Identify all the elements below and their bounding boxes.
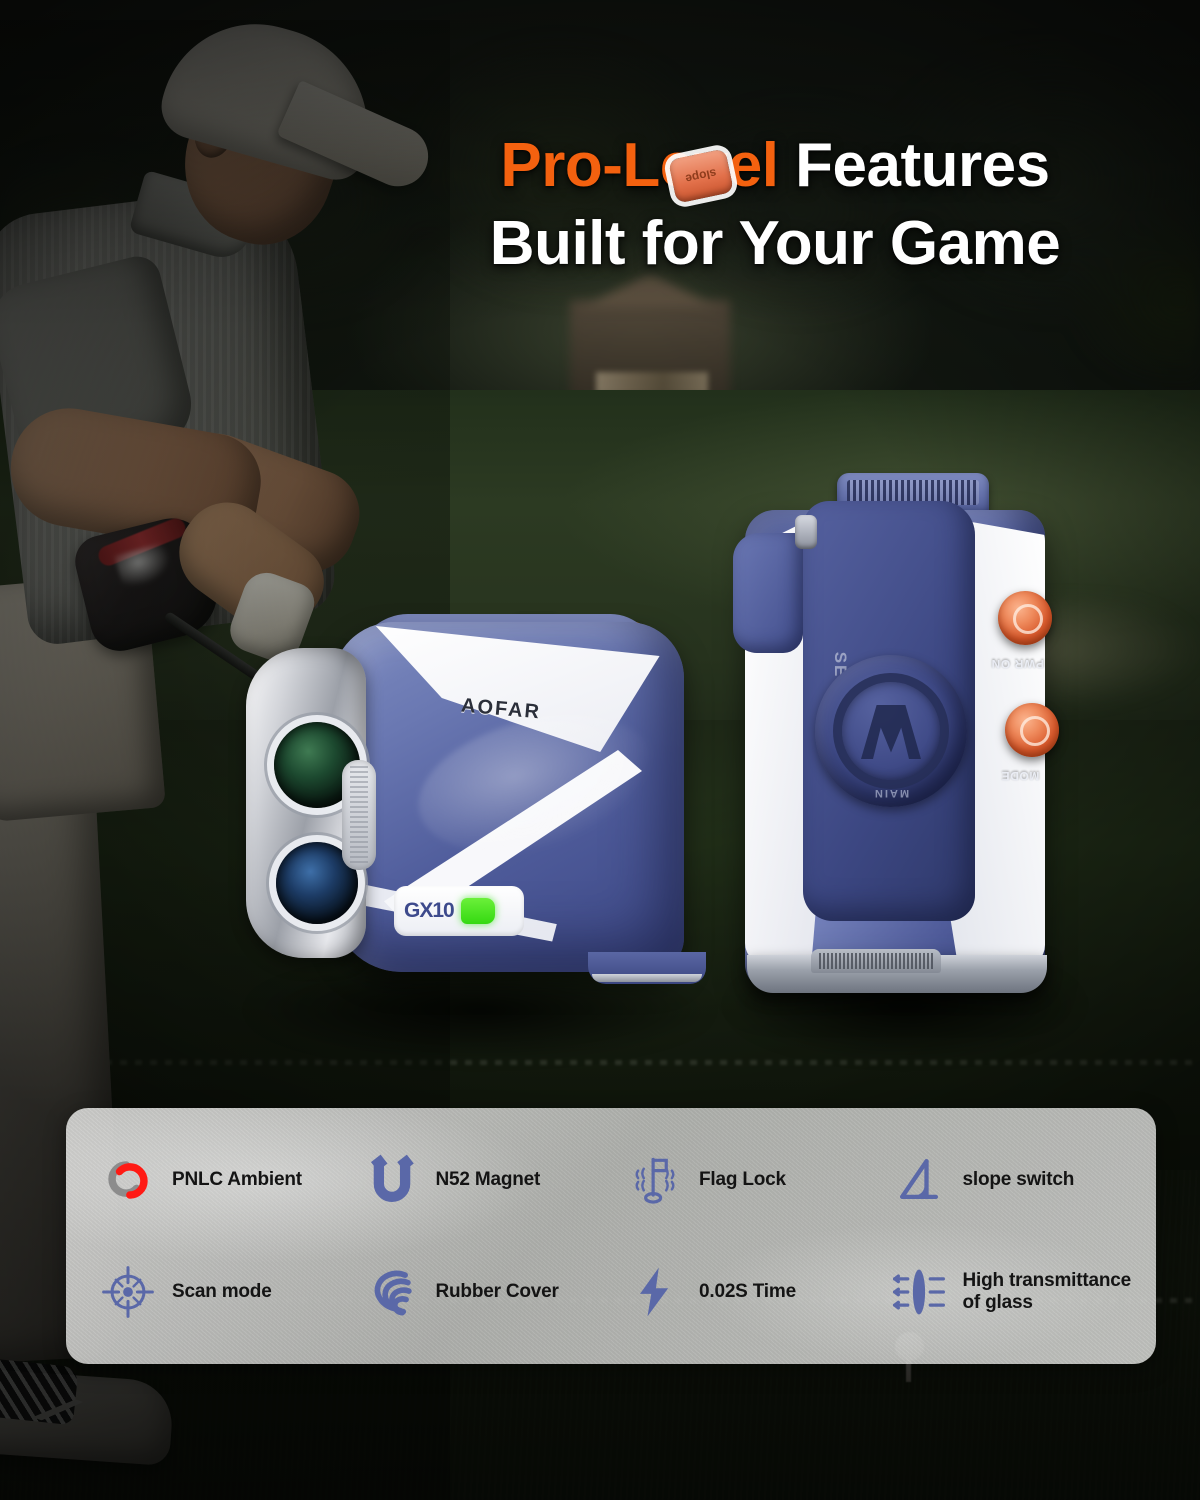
rangefinder-horizontal: AOFAR (236, 600, 736, 1000)
feature-label-line-1: High transmittance (963, 1270, 1132, 1291)
feature-panel: PNLC Ambient N52 Magnet (66, 1108, 1156, 1364)
power-button[interactable] (998, 591, 1052, 645)
headline-line-2: Built for Your Game (380, 212, 1170, 276)
model-name: GX10 (404, 899, 454, 923)
feature-item-pnlc-ambient[interactable]: PNLC Ambient (84, 1124, 348, 1236)
rangefinder-horizontal-foot (588, 952, 706, 984)
feature-item-speed-time[interactable]: 0.02S Time (611, 1236, 875, 1348)
headline-accent-text: Pro-Level (500, 131, 778, 200)
mode-button-label: MODE (1001, 769, 1039, 783)
feature-item-scan-mode[interactable]: Scan mode (84, 1236, 348, 1348)
feature-label: Flag Lock (699, 1169, 786, 1191)
feature-label: slope switch (963, 1169, 1075, 1191)
feature-label: N52 Magnet (436, 1169, 541, 1191)
feature-item-rubber-cover[interactable]: Rubber Cover (348, 1236, 612, 1348)
headline-line-1: Pro-Level Features (380, 134, 1170, 198)
marketing-banner: Pro-Level Features Built for Your Game S… (0, 0, 1200, 1500)
crosshair-target-icon (98, 1262, 158, 1322)
rangefinder-vertical-base-grip (811, 949, 941, 973)
lens-side-grip (342, 760, 376, 870)
feature-label: High transmittance of glass (963, 1270, 1132, 1314)
feature-item-flag-lock[interactable]: Flag Lock (611, 1124, 875, 1236)
battery-cap-label: MAIN (815, 787, 967, 799)
rubber-spiral-icon (362, 1262, 422, 1322)
feature-label: Scan mode (172, 1281, 272, 1303)
power-button-label: PWR ON (991, 657, 1044, 671)
slope-triangle-icon (889, 1150, 949, 1210)
lightning-bolt-icon (625, 1262, 685, 1322)
rangefinder-vertical-side-grip (733, 533, 803, 653)
rangefinder-vertical: SEIMASWISS MAIN PWR ON MODE (715, 455, 1075, 1015)
feature-label-line-2: of glass (963, 1292, 1132, 1314)
battery-cap-label-wrap: MAIN (815, 655, 967, 807)
magnet-icon (362, 1150, 422, 1210)
feature-label: 0.02S Time (699, 1281, 796, 1303)
mode-button[interactable] (1005, 703, 1059, 757)
feature-item-slope-switch[interactable]: slope switch (875, 1124, 1139, 1236)
feature-label: PNLC Ambient (172, 1169, 302, 1191)
flag-lock-icon (625, 1150, 685, 1210)
headline-line-1-rest: Features (778, 131, 1049, 200)
lens-transmittance-icon (889, 1262, 949, 1322)
pnlc-ambient-icon (98, 1150, 158, 1210)
feature-item-n52-magnet[interactable]: N52 Magnet (348, 1124, 612, 1236)
feature-label: Rubber Cover (436, 1281, 559, 1303)
headline: Pro-Level Features Built for Your Game (380, 134, 1170, 276)
model-plate: GX10 (394, 886, 524, 936)
sensor-window (795, 515, 817, 549)
feature-grid: PNLC Ambient N52 Magnet (66, 1108, 1156, 1364)
feature-item-high-transmittance[interactable]: High transmittance of glass (875, 1236, 1139, 1348)
status-led (461, 898, 495, 924)
